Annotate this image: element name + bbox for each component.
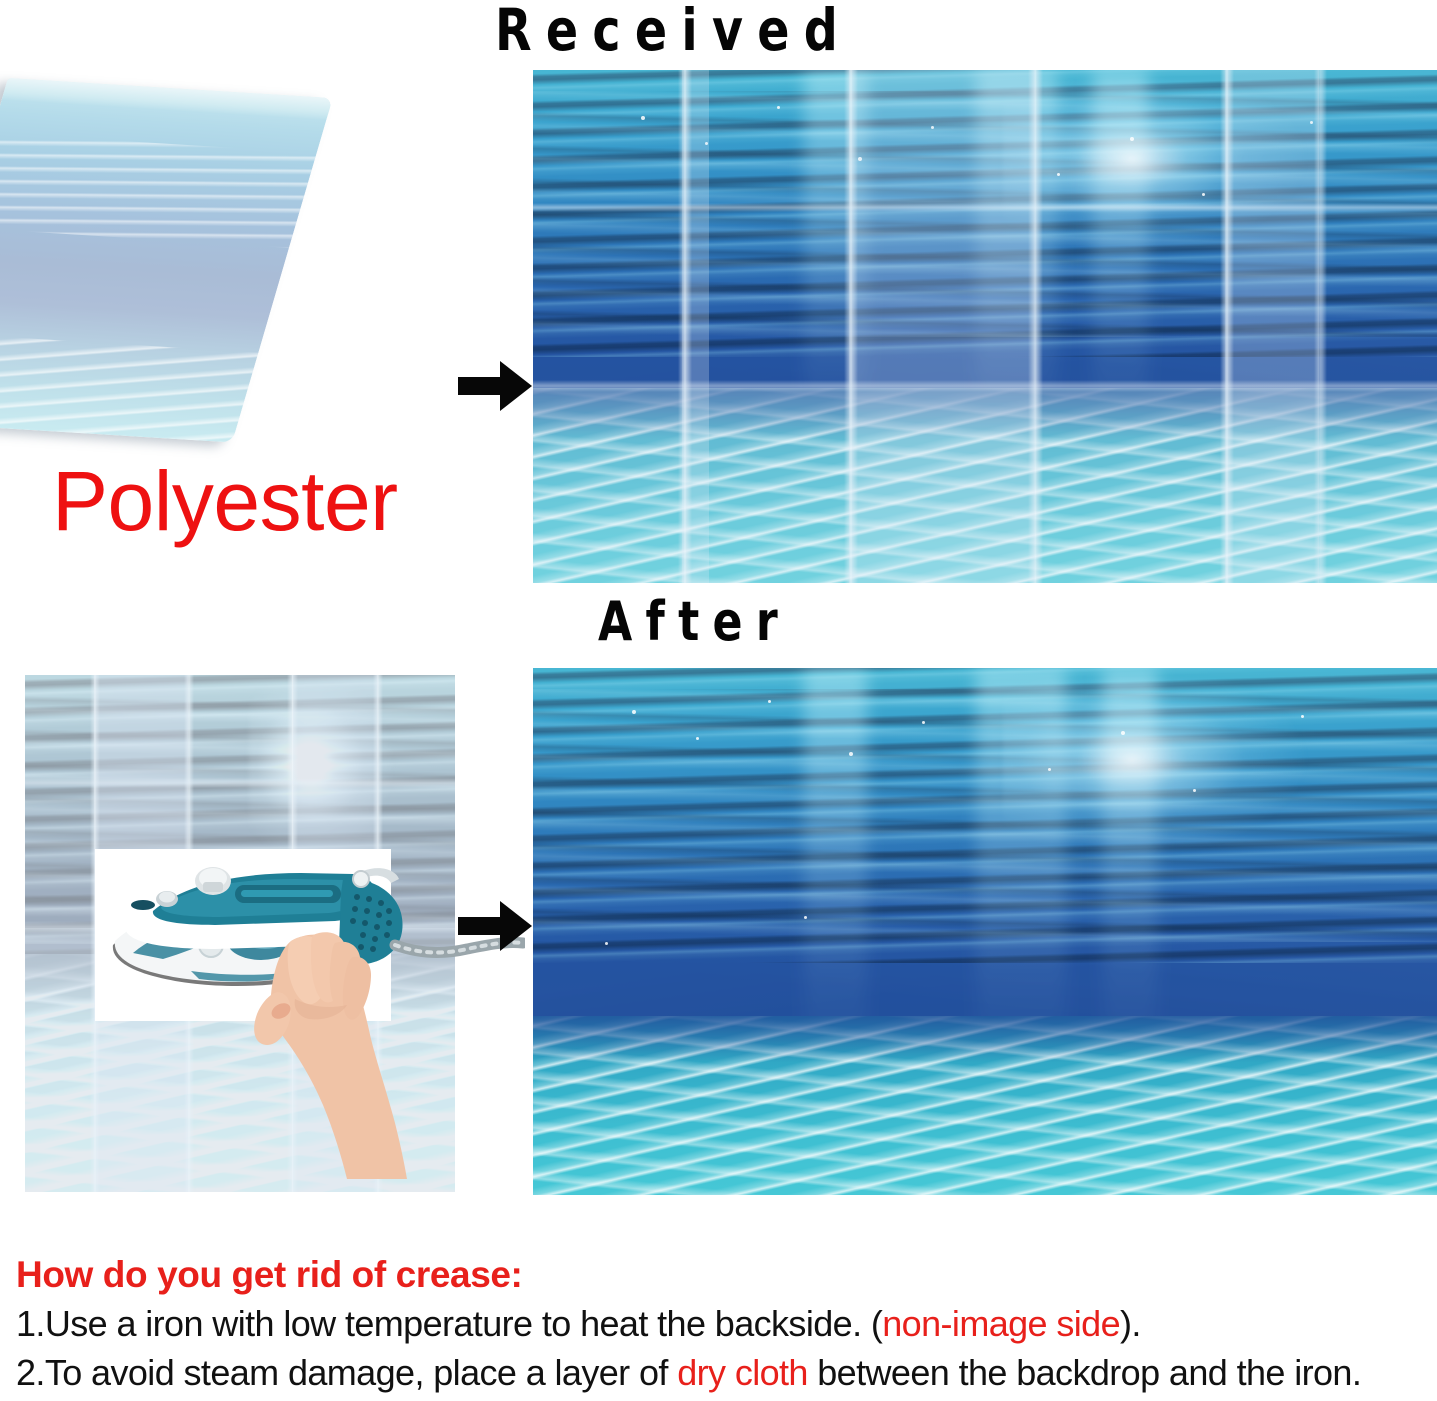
instruction-2-highlight: dry cloth bbox=[677, 1352, 808, 1393]
polyester-fabric-swatch bbox=[0, 78, 333, 443]
instruction-line-2: 2.To avoid steam damage, place a layer o… bbox=[16, 1350, 1426, 1396]
iron-inset-panel bbox=[95, 849, 391, 1021]
right-arrow-icon bbox=[456, 358, 534, 414]
instruction-2-part-1: To avoid steam damage, place a layer of bbox=[45, 1352, 677, 1393]
instruction-1-part-1: Use a iron with low temperature to heat … bbox=[45, 1303, 882, 1344]
instruction-line-1: 1.Use a iron with low temperature to hea… bbox=[16, 1301, 1426, 1347]
sandy-seafloor bbox=[533, 388, 1437, 583]
instruction-2-part-3: between the backdrop and the iron. bbox=[808, 1352, 1361, 1393]
polyester-label: Polyester bbox=[52, 455, 398, 547]
instruction-1-part-3: ). bbox=[1120, 1303, 1141, 1344]
sandy-seafloor bbox=[533, 1016, 1437, 1195]
section-title-after: After bbox=[598, 592, 791, 652]
right-arrow-icon bbox=[456, 898, 534, 954]
section-title-received: Received bbox=[495, 0, 852, 62]
instruction-1-number: 1. bbox=[16, 1303, 45, 1344]
photo-received-backdrop bbox=[533, 70, 1437, 583]
instructions-block: How do you get rid of crease: 1.Use a ir… bbox=[16, 1252, 1426, 1396]
underwater-scene bbox=[533, 668, 1437, 1195]
photo-after-backdrop bbox=[533, 668, 1437, 1195]
underwater-scene bbox=[533, 70, 1437, 583]
instruction-1-highlight: non-image side bbox=[882, 1303, 1120, 1344]
infographic-stage: Received Polyester bbox=[0, 0, 1437, 1401]
instructions-heading: How do you get rid of crease: bbox=[16, 1252, 1426, 1298]
instruction-2-number: 2. bbox=[16, 1352, 45, 1393]
